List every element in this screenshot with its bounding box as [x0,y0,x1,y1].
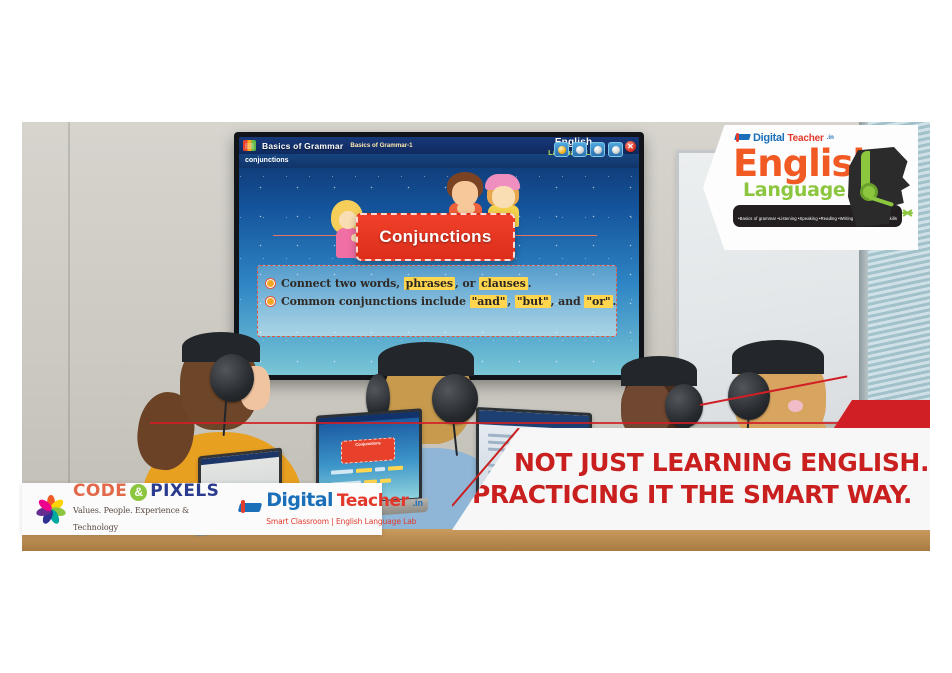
graduation-cap-icon [735,133,750,144]
pinwheel-icon [34,493,66,525]
laptop-slide-title: Conjunctions [342,438,394,449]
code-pixels-word-2: PIXELS [150,483,219,501]
code-pixels-logo: CODE & PIXELS Values. People. Experience… [22,483,227,534]
code-pixels-word-1: CODE [73,483,127,501]
tagline-line-2: PRACTICING IT THE SMART WAY. [472,479,930,511]
headset-head-icon [840,147,916,229]
display-toolbar[interactable] [554,142,623,157]
badge-brand-suffix: .in [827,135,834,141]
digital-teacher-word-2: Teacher [337,492,409,511]
app-logo-icon [243,140,256,151]
slide-title: Conjunctions [379,227,491,247]
graduation-cap-icon [239,500,261,517]
info-icon[interactable] [608,142,623,157]
app-title: Basics of Grammar [262,141,343,151]
digital-teacher-logo: Digital Teacher .in Smart Classroom | En… [227,490,433,528]
digital-teacher-suffix: .in [413,499,424,509]
tagline-line-1: NOT JUST LEARNING ENGLISH. [514,447,930,479]
tagline-banner: NOT JUST LEARNING ENGLISH. PRACTICING IT… [452,428,930,530]
sound-icon[interactable] [590,142,605,157]
digital-teacher-word-1: Digital [266,490,333,511]
code-pixels-tagline: Values. People. Experience & Technology [73,506,189,532]
tab-basics-of-grammar-1[interactable]: Basics of Grammar-1 [350,142,412,149]
red-horizontal-rule [150,422,850,424]
english-language-lab-badge: Digital Teacher .in English Language Lab… [703,125,918,250]
bullet-text-1: Connect two words, phrases, or clauses. [281,277,532,290]
bullet-marker-icon [266,279,275,288]
poster-canvas: Basics of Grammar Basics of Grammar-1 co… [0,0,952,673]
slide-bullet-panel: Connect two words, phrases, or clauses. … [257,265,617,337]
laptop-slide-title-card: Conjunctions [341,437,395,463]
headphones-icon [378,342,474,376]
bullet-marker-icon [266,297,275,306]
footer-logo-bar: CODE & PIXELS Values. People. Experience… [22,483,382,535]
ampersand-icon: & [130,484,147,501]
settings-icon[interactable] [554,142,569,157]
title-rule-right [511,235,597,236]
headphones-icon [732,340,824,374]
bullet-text-2: Common conjunctions include "and", "but"… [281,295,616,308]
bullet-row: Common conjunctions include "and", "but"… [266,295,608,308]
close-icon[interactable]: ✕ [625,141,636,152]
bullet-row: Connect two words, phrases, or clauses. [266,277,608,290]
headphones-icon [621,356,697,386]
digital-teacher-tagline: Smart Classroom | English Language Lab [266,517,416,526]
help-icon[interactable] [572,142,587,157]
slide-title-card: Conjunctions [356,213,515,261]
